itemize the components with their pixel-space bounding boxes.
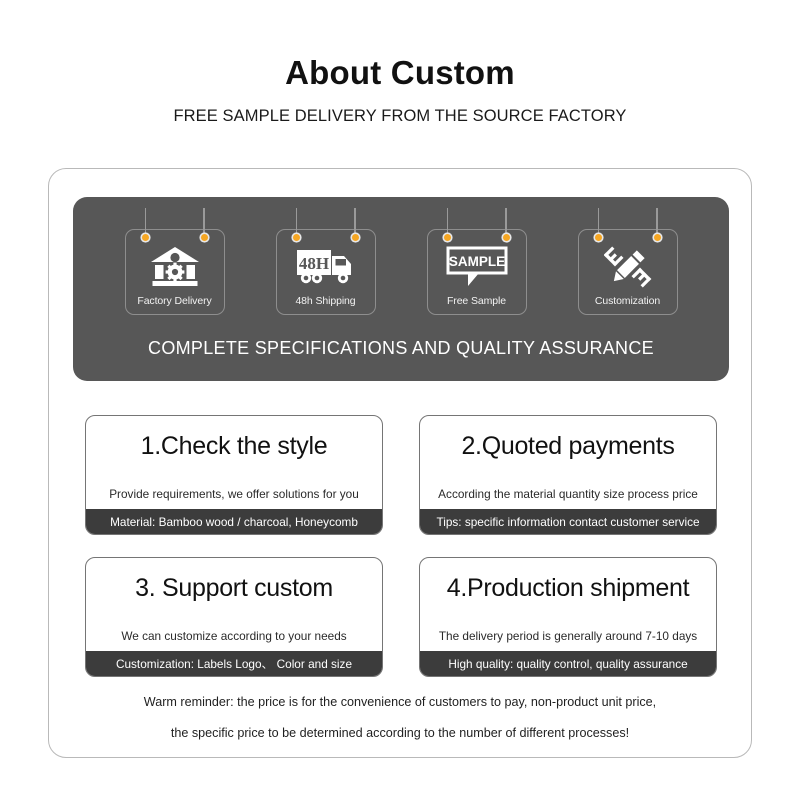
steps-grid: 1.Check the style Provide requirements, … bbox=[85, 415, 717, 677]
pin-dot-left-icon bbox=[595, 234, 602, 241]
panel-banner-text: COMPLETE SPECIFICATIONS AND QUALITY ASSU… bbox=[73, 338, 729, 359]
pencil-edit-icon bbox=[604, 244, 652, 290]
svg-text:48H: 48H bbox=[298, 254, 328, 273]
step-subtitle: We can customize according to your needs bbox=[86, 621, 382, 651]
delivery-truck-48h-icon: 48H bbox=[296, 244, 356, 290]
badge-48h-shipping[interactable]: 48H 48h Shipping bbox=[276, 229, 376, 315]
hanging-string-left-icon bbox=[598, 208, 600, 233]
factory-building-gear-icon bbox=[149, 244, 201, 290]
badge-free-sample[interactable]: SAMPLE Free Sample bbox=[427, 229, 527, 315]
step-title: 4.Production shipment bbox=[420, 558, 716, 621]
badge-label: Factory Delivery bbox=[126, 295, 224, 307]
hanging-string-left-icon bbox=[447, 208, 449, 233]
badge-row: Factory Delivery 48H bbox=[73, 197, 729, 315]
hanging-string-left-icon bbox=[145, 208, 147, 233]
badge-label: Customization bbox=[579, 295, 677, 307]
pin-dot-left-icon bbox=[293, 234, 300, 241]
badge-label: 48h Shipping bbox=[277, 295, 375, 307]
page-title: About Custom bbox=[0, 55, 800, 91]
pin-dot-left-icon bbox=[142, 234, 149, 241]
hanging-string-right-icon bbox=[505, 208, 507, 233]
step-footer: Material: Bamboo wood / charcoal, Honeyc… bbox=[86, 509, 382, 534]
step-card-2[interactable]: 2.Quoted payments According the material… bbox=[419, 415, 717, 535]
step-footer: Customization: Labels Logo、 Color and si… bbox=[86, 651, 382, 676]
step-title: 2.Quoted payments bbox=[420, 416, 716, 479]
sample-speech-bubble-icon: SAMPLE bbox=[446, 244, 508, 290]
feature-panel: Factory Delivery 48H bbox=[73, 197, 729, 381]
badge-factory-delivery[interactable]: Factory Delivery bbox=[125, 229, 225, 315]
pin-dot-right-icon bbox=[654, 234, 661, 241]
content-frame: Factory Delivery 48H bbox=[48, 168, 752, 758]
pin-dot-right-icon bbox=[352, 234, 359, 241]
warm-reminder: Warm reminder: the price is for the conv… bbox=[49, 687, 751, 749]
hanging-string-left-icon bbox=[296, 208, 298, 233]
step-footer: Tips: specific information contact custo… bbox=[420, 509, 716, 534]
step-title: 3. Support custom bbox=[86, 558, 382, 621]
page-subtitle: FREE SAMPLE DELIVERY FROM THE SOURCE FAC… bbox=[0, 107, 800, 126]
step-card-3[interactable]: 3. Support custom We can customize accor… bbox=[85, 557, 383, 677]
step-card-1[interactable]: 1.Check the style Provide requirements, … bbox=[85, 415, 383, 535]
step-subtitle: The delivery period is generally around … bbox=[420, 621, 716, 651]
step-subtitle: Provide requirements, we offer solutions… bbox=[86, 479, 382, 509]
hanging-string-right-icon bbox=[656, 208, 658, 233]
badge-customization[interactable]: Customization bbox=[578, 229, 678, 315]
step-card-4[interactable]: 4.Production shipment The delivery perio… bbox=[419, 557, 717, 677]
pin-dot-right-icon bbox=[503, 234, 510, 241]
reminder-line-1: Warm reminder: the price is for the conv… bbox=[49, 687, 751, 718]
step-footer: High quality: quality control, quality a… bbox=[420, 651, 716, 676]
step-title: 1.Check the style bbox=[86, 416, 382, 479]
reminder-line-2: the specific price to be determined acco… bbox=[49, 718, 751, 749]
hanging-string-right-icon bbox=[354, 208, 356, 233]
step-subtitle: According the material quantity size pro… bbox=[420, 479, 716, 509]
page-header: About Custom FREE SAMPLE DELIVERY FROM T… bbox=[0, 0, 800, 126]
pin-dot-left-icon bbox=[444, 234, 451, 241]
badge-label: Free Sample bbox=[428, 295, 526, 307]
svg-text:SAMPLE: SAMPLE bbox=[448, 254, 504, 269]
pin-dot-right-icon bbox=[201, 234, 208, 241]
hanging-string-right-icon bbox=[203, 208, 205, 233]
